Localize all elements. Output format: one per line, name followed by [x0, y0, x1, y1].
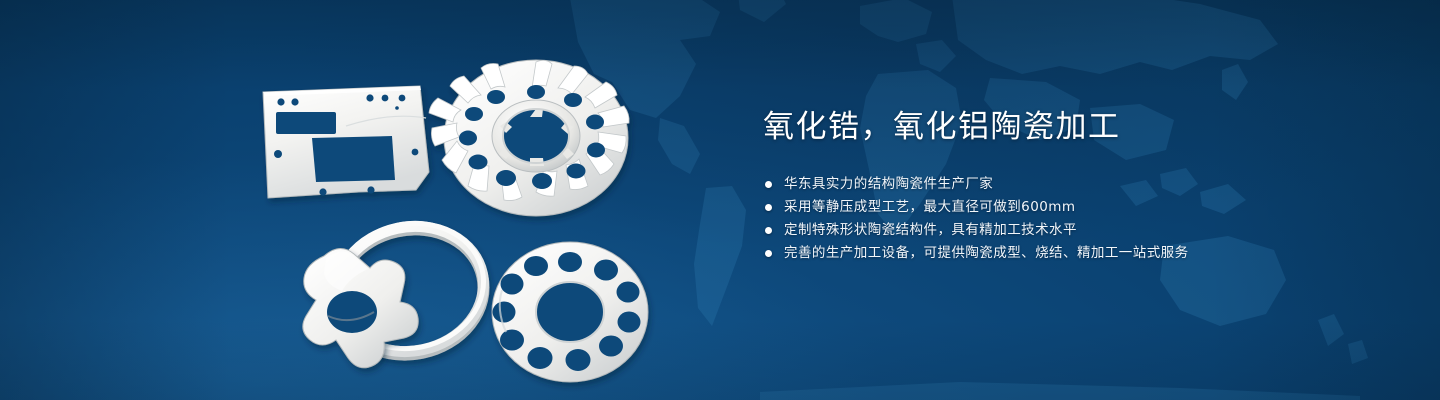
page-title: 氧化锆，氧化铝陶瓷加工 [763, 108, 1323, 148]
list-item: 华东具实力的结构陶瓷件生产厂家 [765, 176, 1323, 193]
feature-text: 完善的生产加工设备，可提供陶瓷成型、烧结、精加工一站式服务 [784, 245, 1189, 262]
feature-text: 华东具实力的结构陶瓷件生产厂家 [784, 176, 993, 193]
bullet-circle-icon [765, 204, 772, 211]
ceramic-disc-part [492, 242, 648, 382]
feature-list: 华东具实力的结构陶瓷件生产厂家 采用等静压成型工艺，最大直径可做到600mm 定… [765, 176, 1323, 262]
ceramic-plate-part [263, 86, 429, 198]
bullet-circle-icon [765, 181, 772, 188]
ceramic-products-image [240, 40, 720, 380]
list-item: 定制特殊形状陶瓷结构件，具有精加工技术水平 [765, 222, 1323, 239]
list-item: 采用等静压成型工艺，最大直径可做到600mm [765, 199, 1323, 216]
feature-text: 定制特殊形状陶瓷结构件，具有精加工技术水平 [784, 222, 1077, 239]
feature-text: 采用等静压成型工艺，最大直径可做到600mm [784, 199, 1075, 216]
banner-text-column: 氧化锆，氧化铝陶瓷加工 华东具实力的结构陶瓷件生产厂家 采用等静压成型工艺，最大… [763, 108, 1323, 268]
bullet-circle-icon [765, 250, 772, 257]
list-item: 完善的生产加工设备，可提供陶瓷成型、烧结、精加工一站式服务 [765, 245, 1323, 262]
hero-banner: 氧化锆，氧化铝陶瓷加工 华东具实力的结构陶瓷件生产厂家 采用等静压成型工艺，最大… [0, 0, 1440, 400]
ceramic-impeller-part [429, 60, 629, 216]
bullet-circle-icon [765, 227, 772, 234]
